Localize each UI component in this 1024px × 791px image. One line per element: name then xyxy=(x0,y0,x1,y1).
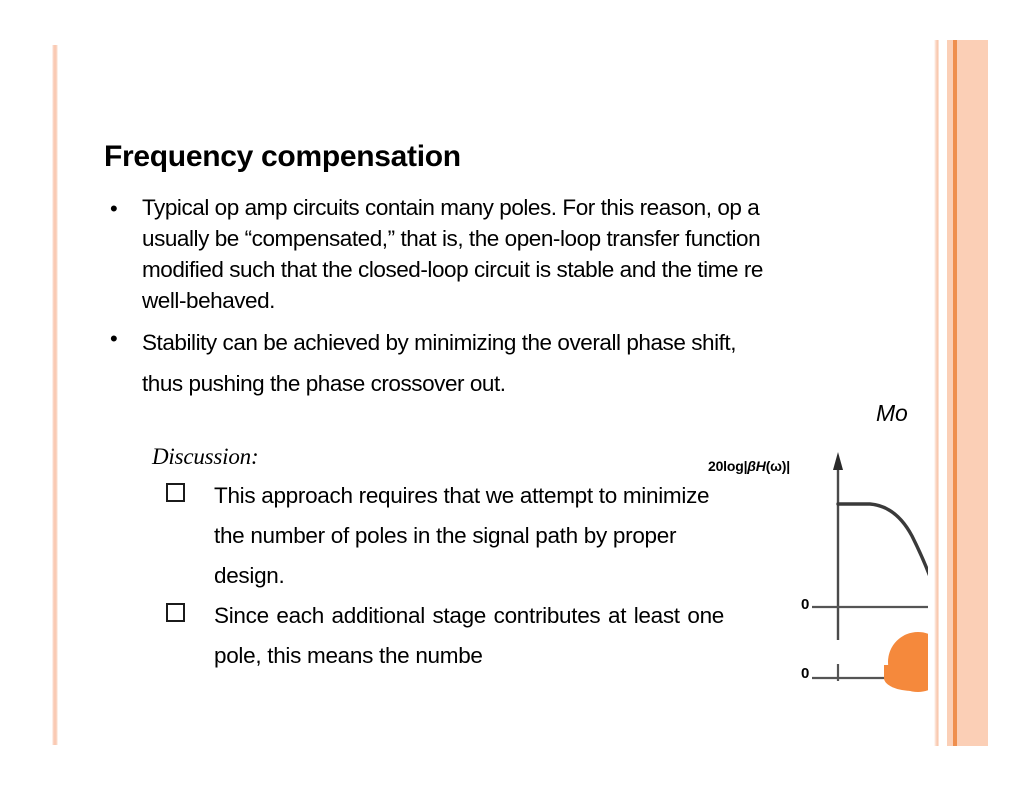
bullet-item: • Typical op amp circuits contain many p… xyxy=(104,192,928,316)
bullet-marker-icon: • xyxy=(104,192,142,226)
bullet-text: Stability can be achieved by minimizing … xyxy=(142,322,742,404)
side-note-text: Mo xyxy=(876,400,908,427)
checkbox-square-icon xyxy=(166,596,214,622)
bullet-marker-icon: • xyxy=(104,322,142,356)
slide-body: Frequency compensation • Typical op amp … xyxy=(0,0,928,791)
right-accent-block xyxy=(947,40,988,746)
slide-canvas: Frequency compensation • Typical op amp … xyxy=(0,0,1024,791)
sub-bullet-text: This approach requires that we attempt t… xyxy=(214,476,714,596)
bullet-item: • Stability can be achieved by minimizin… xyxy=(104,322,764,404)
right-thin-bar xyxy=(934,40,939,746)
page-title: Frequency compensation xyxy=(104,140,461,174)
zero-db-tick-label: 0 xyxy=(801,596,809,613)
magnitude-curve xyxy=(838,504,928,582)
sub-bullet-text: Since each additional stage contributes … xyxy=(214,596,724,676)
phase-zero-tick-label: 0 xyxy=(801,665,809,682)
sub-bullet-item: Since each additional stage contributes … xyxy=(166,596,766,676)
bullet-text: Typical op amp circuits contain many pol… xyxy=(142,192,928,316)
y-axis-arrow-icon xyxy=(833,452,843,470)
checkbox-square-icon xyxy=(166,476,214,502)
sub-bullet-item: This approach requires that we attempt t… xyxy=(166,476,726,596)
right-accent-line xyxy=(953,40,957,746)
discussion-label: Discussion: xyxy=(152,444,258,470)
